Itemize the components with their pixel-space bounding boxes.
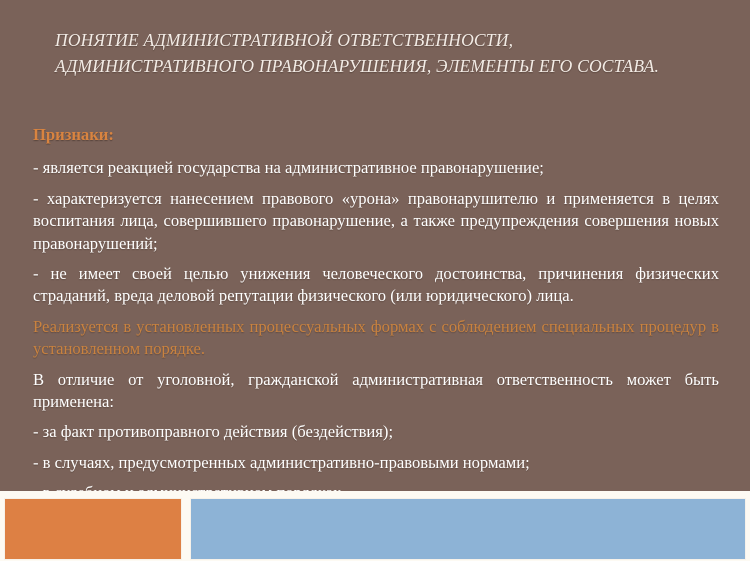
slide-body: Признаки: - является реакцией государств… [33, 124, 719, 513]
presentation-slide: ПОНЯТИЕ АДМИНИСТРАТИВНОЙ ОТВЕТСТВЕННОСТИ… [0, 0, 750, 561]
bullet-paragraph-3: - не имеет своей целью унижения человече… [33, 263, 719, 308]
accent-paragraph-realizuetsya: Реализуется в установленных процессуальн… [33, 316, 719, 361]
list-item-1: - за факт противоправного действия (безд… [33, 421, 719, 443]
bottom-decoration-strip [0, 491, 750, 561]
decorative-bar-orange [4, 498, 182, 560]
bullet-paragraph-1: - является реакцией государства на админ… [33, 157, 719, 179]
title-block: ПОНЯТИЕ АДМИНИСТРАТИВНОЙ ОТВЕТСТВЕННОСТИ… [55, 28, 715, 79]
decorative-bar-blue [190, 498, 746, 560]
lead-in-paragraph: В отличие от уголовной, гражданской адми… [33, 369, 719, 414]
page-title: ПОНЯТИЕ АДМИНИСТРАТИВНОЙ ОТВЕТСТВЕННОСТИ… [55, 28, 715, 79]
bullet-paragraph-2: - характеризуется нанесением правового «… [33, 188, 719, 255]
section-heading-priznaki: Признаки: [33, 124, 719, 146]
list-item-2: - в случаях, предусмотренных администрат… [33, 452, 719, 474]
